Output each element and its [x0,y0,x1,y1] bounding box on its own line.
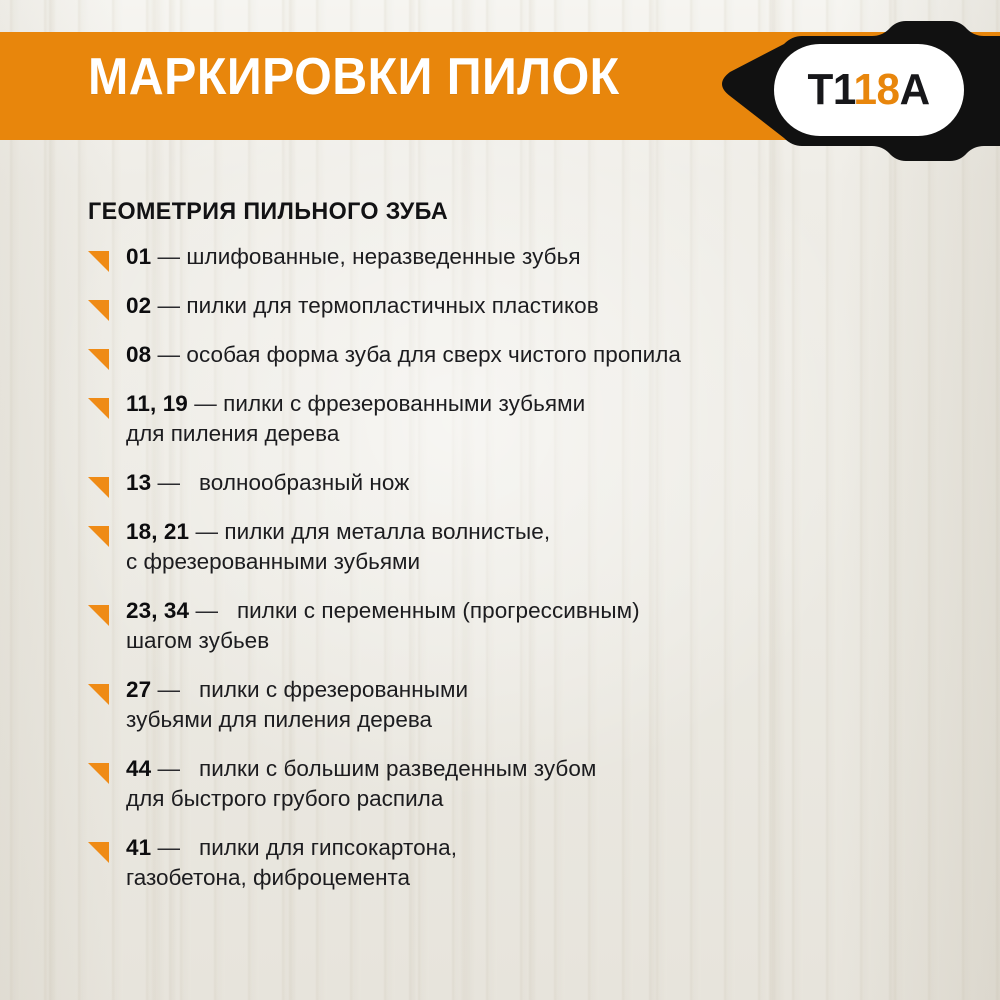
marking-description: пилки для термопластичных пластиков [186,293,598,318]
badge-code-prefix: T1 [808,65,854,114]
marking-code: 02 [126,293,151,318]
list-item: 18, 21 — пилки для металла волнистые,с ф… [88,517,968,577]
poster-canvas: МАРКИРОВКИ ПИЛОК T118A ГЕОМЕТРИЯ ПИЛЬНОГ… [0,0,1000,1000]
marking-description-line2: шагом зубьев [88,626,968,656]
list-item: 23, 34 — пилки с переменным (прогрессивн… [88,596,968,656]
marking-description: особая форма зуба для сверх чистого проп… [186,342,681,367]
list-item-line: 41 — пилки для гипсокартона, [126,833,968,863]
triangle-bullet-icon [88,477,109,498]
list-item-line: 23, 34 — пилки с переменным (прогрессивн… [126,596,968,626]
list-item: 02 — пилки для термопластичных пластиков [88,291,968,321]
marking-code: 23, 34 [126,598,189,623]
content-area: ГЕОМЕТРИЯ ПИЛЬНОГО ЗУБА 01 — шлифованные… [0,140,1000,1000]
list-item: 11, 19 — пилки с фрезерованными зубьямид… [88,389,968,449]
section-heading: ГЕОМЕТРИЯ ПИЛЬНОГО ЗУБА [88,200,448,224]
marking-dash: — [158,470,181,495]
list-item-line: 44 — пилки с большим разведенным зубом [126,754,968,784]
triangle-bullet-icon [88,300,109,321]
marking-description: пилки с фрезерованными [186,677,468,702]
marking-description: пилки для металла волнистые, [224,519,550,544]
marking-description: шлифованные, неразведенные зубья [186,244,580,269]
marking-description-line2: с фрезерованными зубьями [88,547,968,577]
list-item: 01 — шлифованные, неразведенные зубья [88,242,968,272]
marking-code: 44 [126,756,151,781]
model-badge-tag: T118A [706,18,1000,164]
list-item: 44 — пилки с большим разведенным зубомдл… [88,754,968,814]
marking-code: 13 [126,470,151,495]
marking-code: 11, 19 [126,391,188,416]
triangle-bullet-icon [88,684,109,705]
list-item-line: 11, 19 — пилки с фрезерованными зубьями [126,389,968,419]
list-item: 41 — пилки для гипсокартона,газобетона, … [88,833,968,893]
marking-description-line2: газобетона, фиброцемента [88,863,968,893]
list-item-line: 01 — шлифованные, неразведенные зубья [126,242,968,272]
list-item: 08 — особая форма зуба для сверх чистого… [88,340,968,370]
marking-description: пилки с фрезерованными зубьями [223,391,585,416]
marking-list: 01 — шлифованные, неразведенные зубья02 … [88,242,968,912]
triangle-bullet-icon [88,349,109,370]
triangle-bullet-icon [88,763,109,784]
marking-description-line2: для быстрого грубого распила [88,784,968,814]
marking-dash: — [158,342,181,367]
marking-description: пилки с большим разведенным зубом [186,756,596,781]
marking-dash: — [158,677,181,702]
marking-code: 41 [126,835,151,860]
list-item-line: 08 — особая форма зуба для сверх чистого… [126,340,968,370]
marking-description: пилки с переменным (прогрессивным) [224,598,639,623]
badge-code-highlight: 18 [854,65,900,114]
marking-code: 18, 21 [126,519,189,544]
marking-description: пилки для гипсокартона, [186,835,457,860]
triangle-bullet-icon [88,605,109,626]
marking-dash: — [158,835,181,860]
marking-dash: — [158,293,181,318]
list-item-line: 27 — пилки с фрезерованными [126,675,968,705]
list-item-line: 13 — волнообразный нож [126,468,968,498]
marking-code: 01 [126,244,151,269]
list-item: 27 — пилки с фрезерованнымизубьями для п… [88,675,968,735]
badge-code-suffix: A [900,65,930,114]
list-item: 13 — волнообразный нож [88,468,968,498]
marking-code: 08 [126,342,151,367]
model-badge-pill: T118A [774,44,964,136]
marking-description-line2: зубьями для пиления дерева [88,705,968,735]
marking-dash: — [158,756,181,781]
marking-dash: — [158,244,181,269]
marking-description-line2: для пиления дерева [88,419,968,449]
triangle-bullet-icon [88,526,109,547]
list-item-line: 18, 21 — пилки для металла волнистые, [126,517,968,547]
marking-dash: — [194,391,217,416]
triangle-bullet-icon [88,842,109,863]
marking-code: 27 [126,677,151,702]
model-badge-code: T118A [808,68,930,112]
triangle-bullet-icon [88,398,109,419]
page-title: МАРКИРОВКИ ПИЛОК [88,51,620,103]
triangle-bullet-icon [88,251,109,272]
list-item-line: 02 — пилки для термопластичных пластиков [126,291,968,321]
marking-dash: — [195,519,218,544]
marking-description: волнообразный нож [186,470,409,495]
marking-dash: — [195,598,218,623]
